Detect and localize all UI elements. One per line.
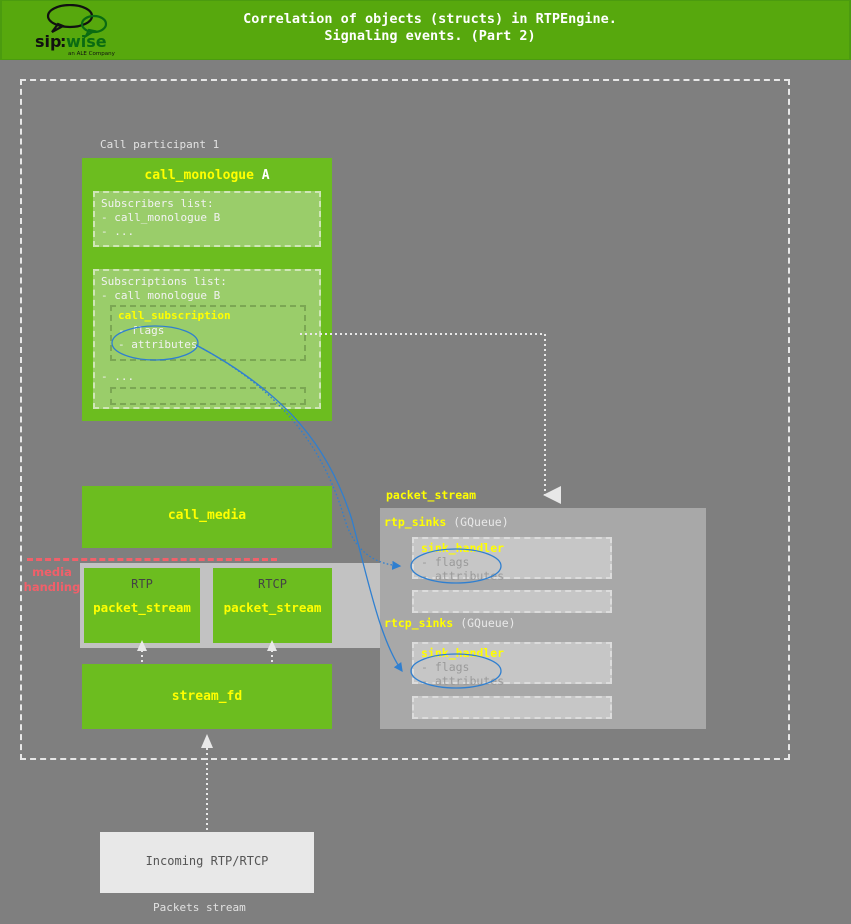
svg-text:sip: sip — [35, 32, 61, 51]
subscribers-item-1: - ... — [101, 225, 134, 240]
sipwise-logo: sip : wise an ALE Company — [32, 4, 132, 56]
call-subscription-box[interactable]: call_subscription - flags - attributes — [110, 305, 306, 361]
svg-text:an ALE Company: an ALE Company — [68, 51, 116, 56]
rtp-sink-handler-field-flags: - flags — [421, 555, 469, 569]
rtcp-caption: RTCP — [213, 577, 332, 591]
call-monologue-a-suffix: A — [262, 168, 270, 183]
svg-text:wise: wise — [66, 32, 107, 51]
call-subscription-name: call_subscription — [118, 309, 231, 324]
rtp-struct-label: packet_stream — [84, 600, 200, 615]
call-media-box[interactable]: call_media — [82, 486, 332, 548]
call-subscription-box-empty — [110, 387, 306, 405]
packet-stream-label: packet_stream — [386, 488, 476, 502]
rtcp-sink-handler-box[interactable]: sink_handler - flags - attributes — [412, 642, 612, 684]
stream-fd-label: stream_fd — [82, 689, 332, 704]
call-monologue-a-title: call_monologue A — [82, 168, 332, 183]
rtcp-sinks-label: rtcp_sinks (GQueue) — [384, 616, 516, 630]
subscribers-list-title: Subscribers list: — [101, 197, 214, 212]
rtcp-sink-handler-name: sink_handler — [421, 646, 504, 660]
rtcp-sink-handler-field-flags: - flags — [421, 660, 469, 674]
subscribers-list-panel: Subscribers list: - call_monologue B - .… — [93, 191, 321, 247]
rtp-sinks-type: (GQueue) — [453, 515, 508, 529]
call-monologue-a-box[interactable]: call_monologue A Subscribers list: - cal… — [82, 158, 332, 421]
packets-stream-caption: Packets stream — [153, 901, 246, 914]
page-header: sip : wise an ALE Company Correlation of… — [0, 0, 851, 60]
rtcp-sink-handler-field-attributes: - attributes — [421, 674, 504, 688]
call-monologue-a-name: call_monologue — [144, 168, 254, 183]
media-handling-divider — [27, 558, 277, 561]
media-handling-label: media handling — [22, 565, 82, 595]
rtcp-sink-empty-row — [412, 696, 612, 719]
subscriptions-item-0: - call monologue B — [101, 289, 220, 304]
rtp-sink-handler-field-attributes: - attributes — [421, 569, 504, 583]
stream-fd-box[interactable]: stream_fd — [82, 664, 332, 729]
rtp-caption: RTP — [84, 577, 200, 591]
subscribers-item-0: - call_monologue B — [101, 211, 220, 226]
rtp-sink-handler-name: sink_handler — [421, 541, 504, 555]
incoming-rtp-rtcp-label: Incoming RTP/RTCP — [100, 854, 314, 868]
call-subscription-field-flags: - flags — [118, 324, 164, 339]
subscriptions-list-panel: Subscriptions list: - call monologue B c… — [93, 269, 321, 409]
subscriptions-item-1: - ... — [101, 370, 134, 385]
rtcp-sinks-type: (GQueue) — [460, 616, 515, 630]
call-participant-label: Call participant 1 — [100, 138, 219, 151]
rtp-sinks-name: rtp_sinks — [384, 515, 446, 529]
rtp-sink-handler-box[interactable]: sink_handler - flags - attributes — [412, 537, 612, 579]
call-media-label: call_media — [82, 508, 332, 523]
call-subscription-field-attributes: - attributes — [118, 338, 197, 353]
rtcp-struct-label: packet_stream — [213, 600, 332, 615]
page-title: Correlation of objects (structs) in RTPE… — [180, 11, 680, 45]
packet-stream-panel: rtp_sinks (GQueue) sink_handler - flags … — [380, 508, 706, 729]
rtp-packet-stream-box[interactable]: RTP packet_stream — [84, 568, 200, 643]
rtcp-packet-stream-box[interactable]: RTCP packet_stream — [213, 568, 332, 643]
subscriptions-list-title: Subscriptions list: — [101, 275, 227, 290]
rtp-sink-empty-row — [412, 590, 612, 613]
rtcp-sinks-name: rtcp_sinks — [384, 616, 453, 630]
rtp-sinks-label: rtp_sinks (GQueue) — [384, 515, 509, 529]
incoming-rtp-rtcp-box[interactable]: Incoming RTP/RTCP — [100, 832, 314, 893]
